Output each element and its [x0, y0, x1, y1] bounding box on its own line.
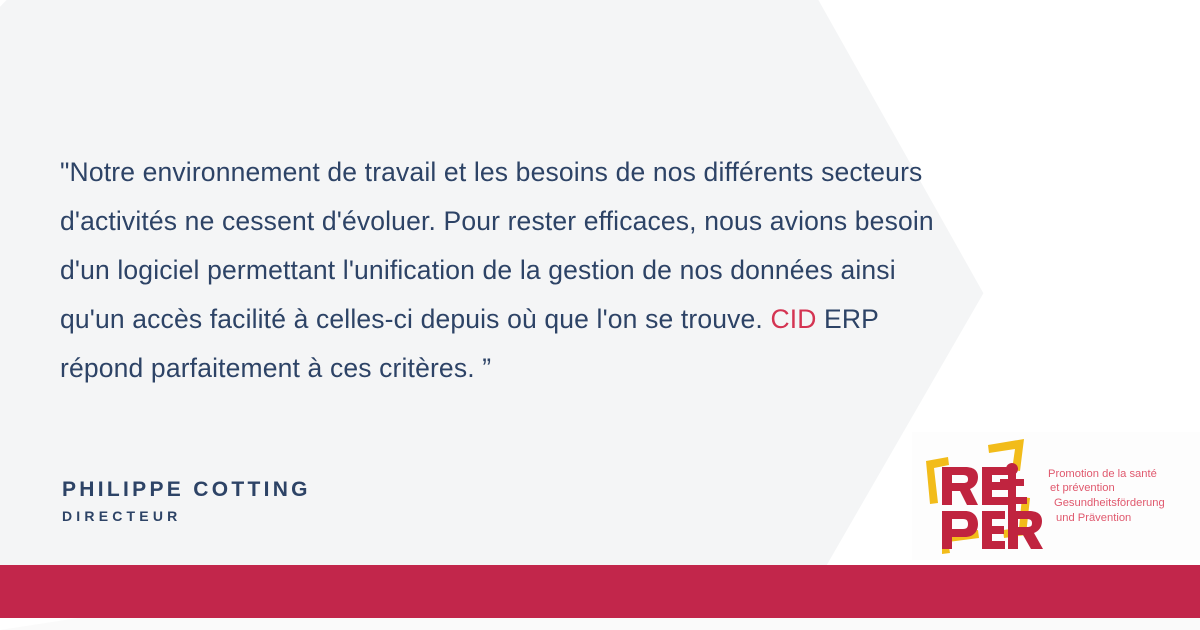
author-name: PHILIPPE COTTING	[62, 477, 311, 503]
reper-logo-tagline: Promotion de la santé et prévention Gesu…	[1048, 467, 1165, 525]
bottom-accent-bar	[0, 565, 1200, 618]
tagline-line-1: Promotion de la santé	[1048, 467, 1165, 482]
tagline-line-4: und Prävention	[1048, 511, 1165, 526]
testimonial-card: "Notre environnement de travail et les b…	[0, 0, 1200, 630]
author-role: DIRECTEUR	[62, 507, 311, 525]
quote-brand-cid: CID	[770, 304, 816, 334]
quote-text: "Notre environnement de travail et les b…	[60, 148, 940, 393]
reper-logo-panel: Promotion de la santé et prévention Gesu…	[912, 432, 1200, 560]
author-block: PHILIPPE COTTING DIRECTEUR	[62, 477, 311, 525]
reper-logo-mark	[912, 435, 1044, 557]
quote-block: "Notre environnement de travail et les b…	[60, 148, 940, 393]
tagline-line-2: et prévention	[1048, 481, 1165, 496]
bottom-light-strip	[0, 618, 1200, 630]
tagline-line-3: Gesundheitsförderung	[1048, 496, 1165, 511]
